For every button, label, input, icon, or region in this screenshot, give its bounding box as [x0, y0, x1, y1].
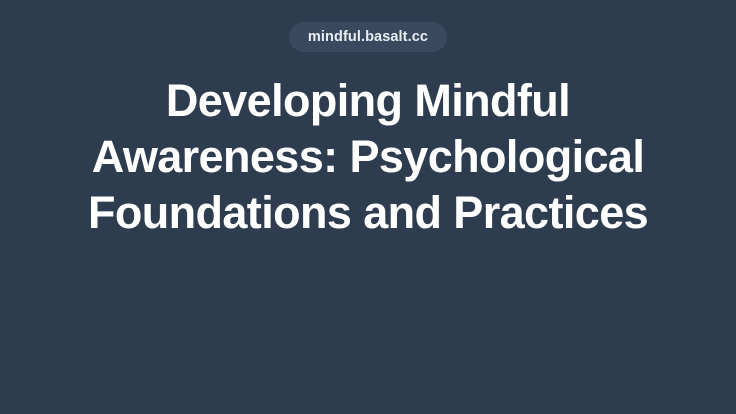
domain-badge: mindful.basalt.cc [289, 22, 447, 52]
page-title: Developing Mindful Awareness: Psychologi… [48, 73, 688, 241]
title-block: Developing Mindful Awareness: Psychologi… [48, 73, 688, 241]
social-preview-card: mindful.basalt.cc Developing Mindful Awa… [0, 0, 736, 414]
domain-badge-label: mindful.basalt.cc [308, 30, 428, 45]
